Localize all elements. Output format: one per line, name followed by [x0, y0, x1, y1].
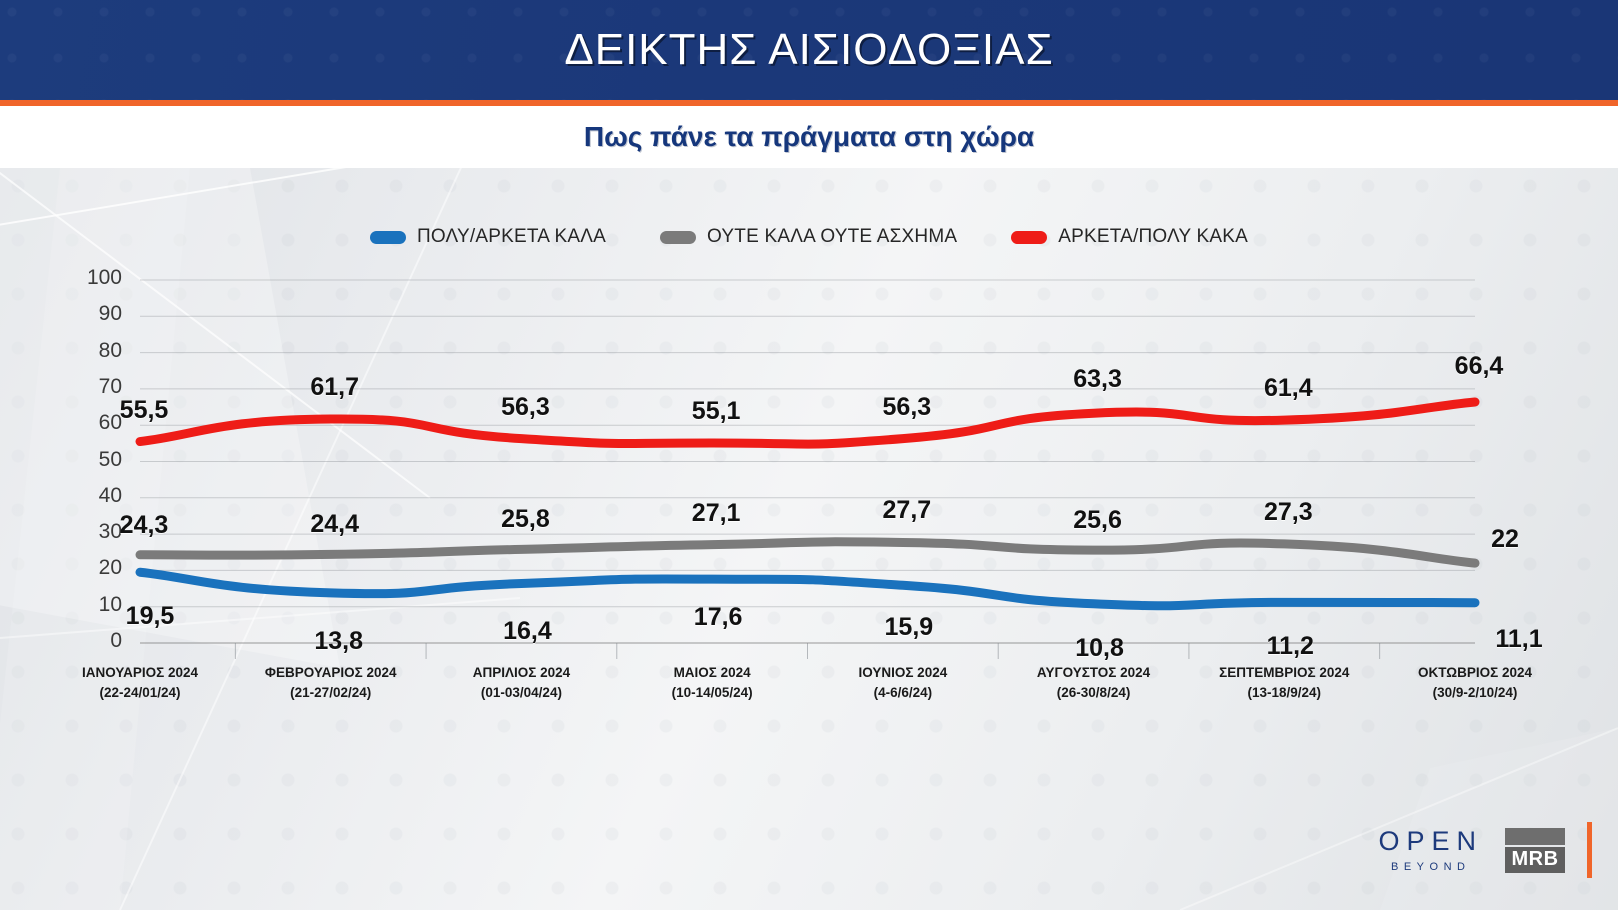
- data-label-s2-p1: 61,7: [310, 373, 359, 402]
- data-label-s0-p2: 16,4: [503, 617, 552, 646]
- x-axis-tick-7: ΟΚΤΩΒΡΙΟΣ 2024(30/9-2/10/24): [1365, 663, 1585, 702]
- mrb-logo-bar: [1505, 828, 1565, 845]
- x-axis-tick-4: ΙΟΥΝΙΟΣ 2024(4-6/6/24): [793, 663, 1013, 702]
- data-label-s1-p4: 27,7: [883, 496, 932, 525]
- x-tick-daterange: (10-14/05/24): [602, 683, 822, 703]
- data-label-s1-p7: 22: [1491, 525, 1519, 554]
- y-axis-tick-100: 100: [70, 266, 122, 290]
- data-label-s0-p5: 10,8: [1075, 634, 1124, 663]
- data-label-s0-p1: 13,8: [314, 627, 363, 656]
- y-axis-tick-10: 10: [70, 593, 122, 617]
- open-logo-text: OPEN: [1378, 828, 1483, 855]
- y-axis-tick-70: 70: [70, 375, 122, 399]
- x-tick-month: ΜΑΙΟΣ 2024: [602, 663, 822, 683]
- y-axis-tick-40: 40: [70, 484, 122, 508]
- series-line-1: [140, 542, 1475, 563]
- chart-stage: ΠΟΛΥ/ΑΡΚΕΤΑ ΚΑΛΑ ΟΥΤΕ ΚΑΛΑ ΟΥΤΕ ΑΣΧΗΜΑ Α…: [0, 168, 1618, 910]
- y-axis-tick-20: 20: [70, 556, 122, 580]
- data-label-s2-p6: 61,4: [1264, 374, 1313, 403]
- data-label-s0-p6: 11,2: [1267, 632, 1314, 661]
- y-axis-tick-60: 60: [70, 411, 122, 435]
- subheader-band: Πως πάνε τα πράγματα στη χώρα: [0, 106, 1618, 168]
- data-label-s2-p5: 63,3: [1073, 365, 1122, 394]
- mrb-logo: MRB: [1505, 828, 1565, 873]
- page-title: ΔΕΙΚΤΗΣ ΑΙΣΙΟΔΟΞΙΑΣ: [0, 0, 1618, 100]
- page-subtitle: Πως πάνε τα πράγματα στη χώρα: [584, 121, 1034, 153]
- x-tick-daterange: (4-6/6/24): [793, 683, 1013, 703]
- header-band: ΔΕΙΚΤΗΣ ΑΙΣΙΟΔΟΞΙΑΣ: [0, 0, 1618, 100]
- data-label-s2-p2: 56,3: [501, 393, 550, 422]
- beyond-logo-text: BEYOND: [1391, 862, 1470, 873]
- y-axis-tick-30: 30: [70, 520, 122, 544]
- x-tick-daterange: (13-18/9/24): [1174, 683, 1394, 703]
- x-tick-daterange: (22-24/01/24): [30, 683, 250, 703]
- data-label-s1-p1: 24,4: [310, 510, 359, 539]
- data-label-s2-p7: 66,4: [1455, 352, 1504, 381]
- footer-accent-tick: [1587, 822, 1592, 878]
- data-label-s0-p4: 15,9: [885, 613, 934, 642]
- data-label-s1-p0: 24,3: [120, 511, 169, 540]
- x-tick-month: ΑΠΡΙΛΙΟΣ 2024: [411, 663, 631, 683]
- data-label-s0-p0: 19,5: [126, 602, 175, 631]
- y-axis-tick-0: 0: [70, 629, 122, 653]
- open-beyond-logo: OPEN BEYOND: [1378, 828, 1483, 873]
- y-axis-tick-90: 90: [70, 302, 122, 326]
- x-tick-month: ΙΟΥΝΙΟΣ 2024: [793, 663, 1013, 683]
- x-tick-month: ΑΥΓΟΥΣΤΟΣ 2024: [984, 663, 1204, 683]
- x-axis-tick-3: ΜΑΙΟΣ 2024(10-14/05/24): [602, 663, 822, 702]
- data-label-s1-p3: 27,1: [692, 499, 741, 528]
- footer-logos: OPEN BEYOND MRB: [1378, 822, 1592, 878]
- x-tick-daterange: (26-30/8/24): [984, 683, 1204, 703]
- x-axis-tick-1: ΦΕΒΡΟΥΑΡΙΟΣ 2024(21-27/02/24): [221, 663, 441, 702]
- y-axis-tick-80: 80: [70, 339, 122, 363]
- x-tick-month: ΟΚΤΩΒΡΙΟΣ 2024: [1365, 663, 1585, 683]
- x-tick-daterange: (30/9-2/10/24): [1365, 683, 1585, 703]
- mrb-logo-text: MRB: [1505, 847, 1565, 873]
- data-label-s1-p5: 25,6: [1073, 506, 1122, 535]
- x-tick-daterange: (21-27/02/24): [221, 683, 441, 703]
- y-axis-tick-50: 50: [70, 448, 122, 472]
- data-label-s1-p6: 27,3: [1264, 498, 1313, 527]
- series-line-2: [140, 402, 1475, 444]
- data-label-s2-p0: 55,5: [120, 396, 169, 425]
- data-label-s2-p3: 55,1: [692, 397, 741, 426]
- data-label-s0-p7: 11,1: [1495, 625, 1542, 654]
- x-axis-tick-2: ΑΠΡΙΛΙΟΣ 2024(01-03/04/24): [411, 663, 631, 702]
- x-tick-month: ΣΕΠΤΕΜΒΡΙΟΣ 2024: [1174, 663, 1394, 683]
- x-axis-tick-5: ΑΥΓΟΥΣΤΟΣ 2024(26-30/8/24): [984, 663, 1204, 702]
- x-tick-month: ΙΑΝΟΥΑΡΙΟΣ 2024: [30, 663, 250, 683]
- x-tick-month: ΦΕΒΡΟΥΑΡΙΟΣ 2024: [221, 663, 441, 683]
- data-label-s1-p2: 25,8: [501, 505, 550, 534]
- x-axis-tick-0: ΙΑΝΟΥΑΡΙΟΣ 2024(22-24/01/24): [30, 663, 250, 702]
- chart-plot: [0, 168, 1618, 910]
- data-label-s2-p4: 56,3: [883, 393, 932, 422]
- data-label-s0-p3: 17,6: [694, 603, 743, 632]
- series-line-0: [140, 572, 1475, 606]
- x-axis-tick-6: ΣΕΠΤΕΜΒΡΙΟΣ 2024(13-18/9/24): [1174, 663, 1394, 702]
- x-tick-daterange: (01-03/04/24): [411, 683, 631, 703]
